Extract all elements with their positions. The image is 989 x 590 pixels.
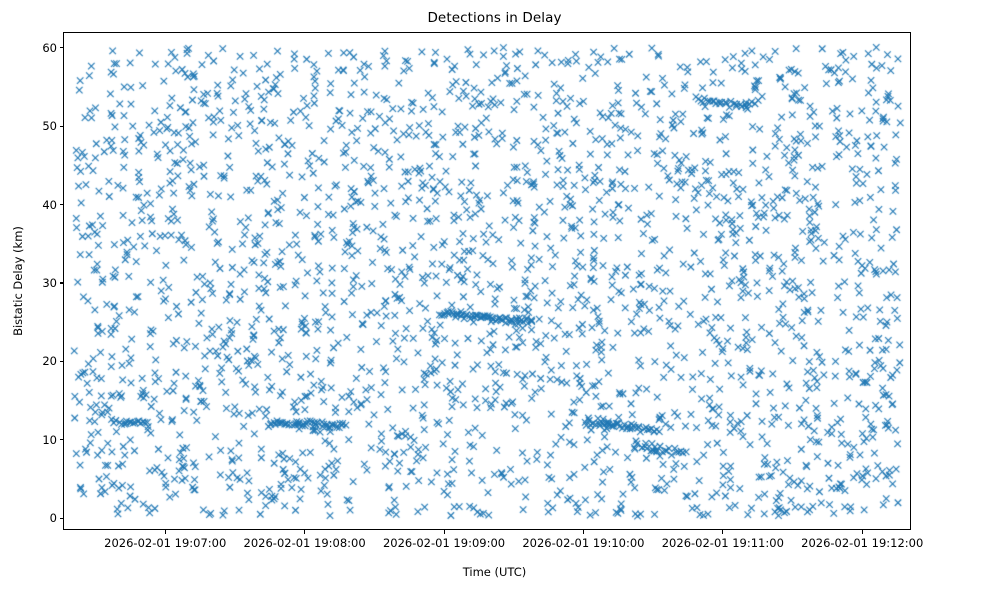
x-tick-mark (444, 530, 445, 534)
x-tick-mark (862, 530, 863, 534)
y-tick-mark (60, 282, 64, 283)
y-tick-mark (60, 361, 64, 362)
x-axis-label: Time (UTC) (0, 565, 989, 579)
y-axis-label: Bistatic Delay (km) (11, 226, 25, 336)
x-tick-mark (722, 530, 723, 534)
y-tick-label: 20 (42, 354, 57, 368)
y-tick-mark (60, 204, 64, 205)
x-tick-mark (583, 530, 584, 534)
plot-axes-area (63, 32, 911, 530)
y-tick-label: 30 (42, 276, 57, 290)
x-tick-label: 2026-02-01 19:12:00 (801, 536, 923, 550)
x-tick-label: 2026-02-01 19:07:00 (104, 536, 226, 550)
x-tick-mark (304, 530, 305, 534)
y-tick-mark (60, 518, 64, 519)
y-tick-label: 40 (42, 198, 57, 212)
x-tick-label: 2026-02-01 19:08:00 (244, 536, 366, 550)
x-tick-label: 2026-02-01 19:10:00 (522, 536, 644, 550)
y-tick-label: 0 (50, 511, 57, 525)
y-tick-mark (60, 439, 64, 440)
y-tick-label: 50 (42, 119, 57, 133)
x-tick-label: 2026-02-01 19:09:00 (383, 536, 505, 550)
scatter-plot-canvas (64, 33, 911, 530)
y-tick-label: 10 (42, 433, 57, 447)
x-tick-mark (165, 530, 166, 534)
y-tick-mark (60, 126, 64, 127)
matplotlib-figure: Detections in Delay 0102030405060 2026-0… (0, 0, 989, 590)
page-title: Detections in Delay (0, 10, 989, 26)
x-tick-label: 2026-02-01 19:11:00 (662, 536, 784, 550)
y-tick-mark (60, 47, 64, 48)
y-tick-label: 60 (42, 41, 57, 55)
